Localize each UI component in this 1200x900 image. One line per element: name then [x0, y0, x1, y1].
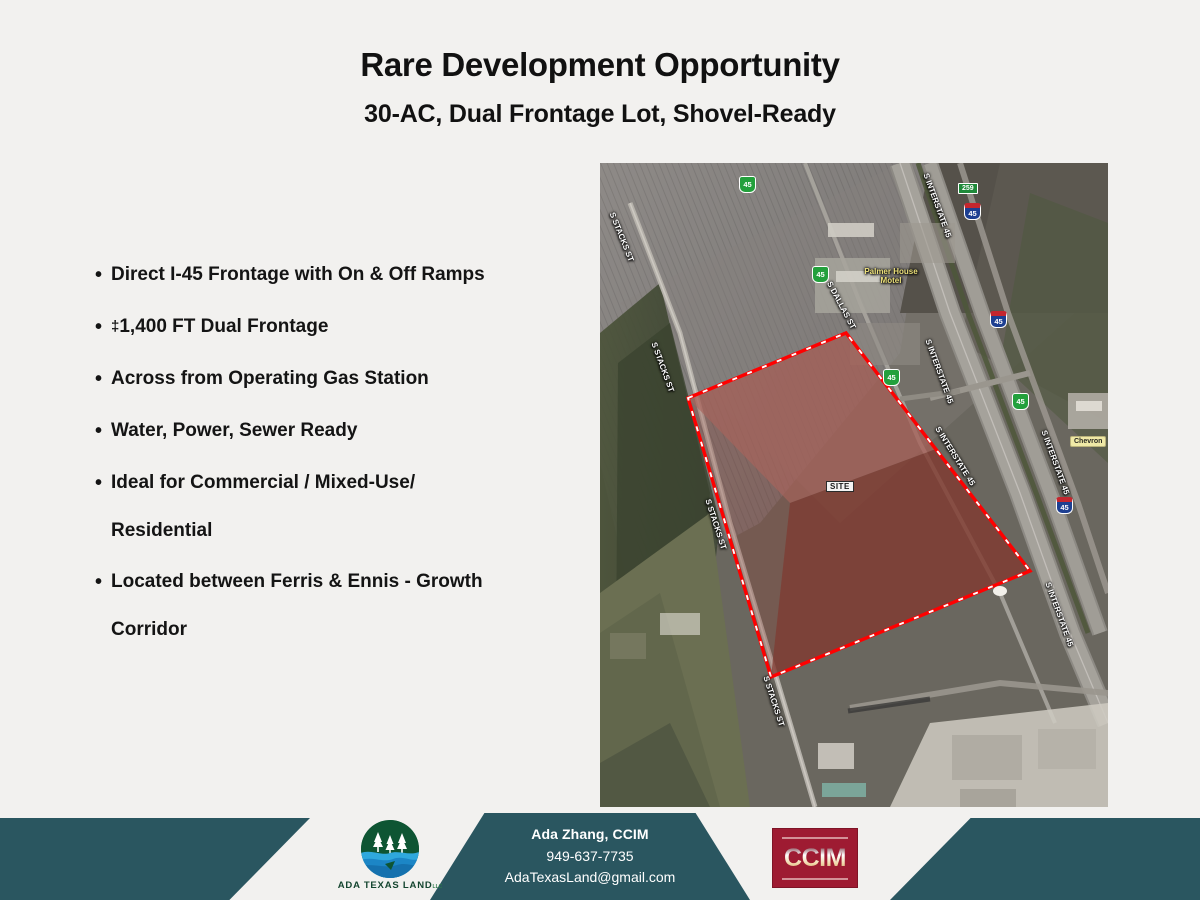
brand-name: ADA TEXAS LANDLLC	[330, 880, 450, 891]
poi-chevron: Chevron	[1070, 436, 1106, 447]
ccim-rule-bottom	[782, 878, 848, 880]
bullet-label: Direct I-45 Frontage with On & Off Ramps	[111, 264, 485, 285]
pine-tree-lake-icon	[361, 820, 419, 878]
bullet-text-wrapper: Across from Operating Gas Station	[111, 366, 595, 392]
page-subtitle: 30-AC, Dual Frontage Lot, Shovel-Ready	[0, 100, 1200, 129]
route-shield-i45-green-4: 45	[1012, 393, 1029, 410]
bullet-text-wrapper: ‡1,400 FT Dual Frontage	[111, 314, 595, 340]
bullet-dot-icon: •	[95, 470, 111, 496]
bullet-text-wrapper: Located between Ferris & Ennis - Growth …	[111, 569, 595, 642]
brand-suffix: LLC	[433, 884, 443, 890]
bullet-dot-icon: •	[95, 418, 111, 444]
title-block: Rare Development Opportunity 30-AC, Dual…	[0, 46, 1200, 129]
contact-block: Ada Zhang, CCIM 949-637-7735 AdaTexasLan…	[430, 826, 750, 885]
bullet-dot-icon: •	[95, 569, 111, 595]
agent-phone[interactable]: 949-637-7735	[430, 848, 750, 864]
bullet-dot-icon: •	[95, 262, 111, 288]
route-shield-i45-blue-2: 45	[990, 311, 1007, 328]
list-item: • Across from Operating Gas Station	[95, 366, 595, 392]
exit-number-marker: 259	[958, 183, 978, 194]
ccim-certification-badge: CCIM	[772, 828, 858, 888]
route-shield-i45-blue-1: 45	[964, 203, 981, 220]
bullet-label-line2: Residential	[111, 518, 595, 544]
list-item: • Direct I-45 Frontage with On & Off Ram…	[95, 262, 595, 288]
map-imagery	[600, 163, 1108, 807]
bullet-text-wrapper: Water, Power, Sewer Ready	[111, 418, 595, 444]
brand-name-text: ADA TEXAS LAND	[338, 880, 433, 891]
footer-band-right	[890, 818, 1200, 900]
route-shield-i45-blue-3: 45	[1056, 497, 1073, 514]
bullet-label: Ideal for Commercial / Mixed-Use/	[111, 472, 415, 493]
agent-name: Ada Zhang, CCIM	[430, 826, 750, 842]
bullet-dot-icon: •	[95, 314, 111, 340]
route-shield-i45-green-3: 45	[883, 369, 900, 386]
aerial-site-map[interactable]: S STACKS ST S STACKS ST S STACKS ST S ST…	[600, 163, 1108, 807]
route-shield-i45-green-1: 45	[739, 176, 756, 193]
route-shield-i45-green-2: 45	[812, 266, 829, 283]
list-item: • Water, Power, Sewer Ready	[95, 418, 595, 444]
agent-email[interactable]: AdaTexasLand@gmail.com	[430, 869, 750, 885]
list-item: • Located between Ferris & Ennis - Growt…	[95, 569, 595, 642]
bullet-dot-icon: •	[95, 366, 111, 392]
page-title: Rare Development Opportunity	[0, 46, 1200, 84]
bullet-text-wrapper: Direct I-45 Frontage with On & Off Ramps	[111, 262, 595, 288]
bullet-label-line2: Corridor	[111, 617, 595, 643]
site-label: SITE	[826, 481, 854, 492]
bullet-text-wrapper: Ideal for Commercial / Mixed-Use/ Reside…	[111, 470, 595, 543]
bullet-label: Located between Ferris & Ennis - Growth	[111, 571, 483, 592]
list-item: • ‡1,400 FT Dual Frontage	[95, 314, 595, 340]
logo-circle-icon	[361, 820, 419, 878]
feature-bullet-list: • Direct I-45 Frontage with On & Off Ram…	[95, 262, 595, 669]
list-item: • Ideal for Commercial / Mixed-Use/ Resi…	[95, 470, 595, 543]
ccim-rule-top	[782, 837, 848, 839]
bullet-label: Across from Operating Gas Station	[111, 368, 429, 389]
ccim-label: CCIM	[784, 844, 846, 873]
footer-band-left	[0, 818, 310, 900]
bullet-label: 1,400 FT Dual Frontage	[119, 316, 328, 337]
bullet-label: Water, Power, Sewer Ready	[111, 420, 357, 441]
brand-logo[interactable]: ADA TEXAS LANDLLC	[330, 818, 450, 898]
